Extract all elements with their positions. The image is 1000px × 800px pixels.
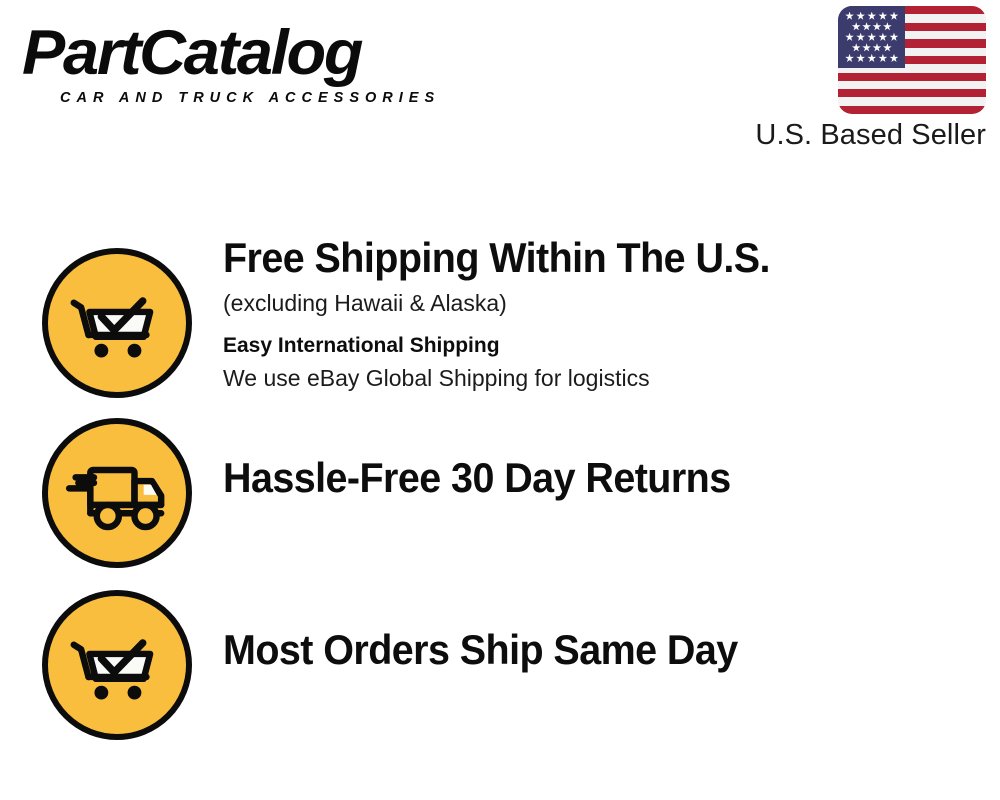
feature-row: Hassle-Free 30 Day Returns [0, 404, 1000, 574]
feature-title: Most Orders Ship Same Day [223, 626, 935, 674]
us-based-seller-label: U.S. Based Seller [716, 118, 986, 152]
feature-subtext: We use eBay Global Shipping for logistic… [223, 361, 980, 395]
fast-delivery-truck-icon [42, 418, 192, 568]
promo-banner: PartCatalog CAR AND TRUCK ACCESSORIES [0, 0, 1000, 800]
feature-note: (excluding Hawaii & Alaska) [223, 286, 980, 320]
feature-row: Most Orders Ship Same Day [0, 574, 1000, 744]
shopping-cart-check-icon [42, 590, 192, 740]
feature-title: Free Shipping Within The U.S. [223, 234, 935, 282]
us-flag-icon [838, 6, 986, 114]
banner-header: PartCatalog CAR AND TRUCK ACCESSORIES [0, 0, 1000, 170]
brand-tagline: CAR AND TRUCK ACCESSORIES [60, 90, 440, 106]
feature-text-block: Hassle-Free 30 Day Returns [223, 454, 980, 502]
brand-wordmark: PartCatalog [22, 18, 506, 88]
us-based-seller-badge: U.S. Based Seller [716, 6, 986, 152]
feature-title: Hassle-Free 30 Day Returns [223, 454, 935, 502]
shopping-cart-check-icon [42, 248, 192, 398]
brand-logo[interactable]: PartCatalog CAR AND TRUCK ACCESSORIES [22, 18, 492, 118]
feature-text-block: Free Shipping Within The U.S. (excluding… [223, 234, 980, 395]
flag-star-grid [838, 6, 905, 68]
flag-canton [838, 6, 905, 68]
feature-row: Free Shipping Within The U.S. (excluding… [0, 234, 1000, 404]
text-spacer [223, 320, 980, 330]
feature-list: Free Shipping Within The U.S. (excluding… [0, 234, 1000, 744]
feature-subtitle: Easy International Shipping [223, 330, 980, 361]
feature-text-block: Most Orders Ship Same Day [223, 626, 980, 674]
